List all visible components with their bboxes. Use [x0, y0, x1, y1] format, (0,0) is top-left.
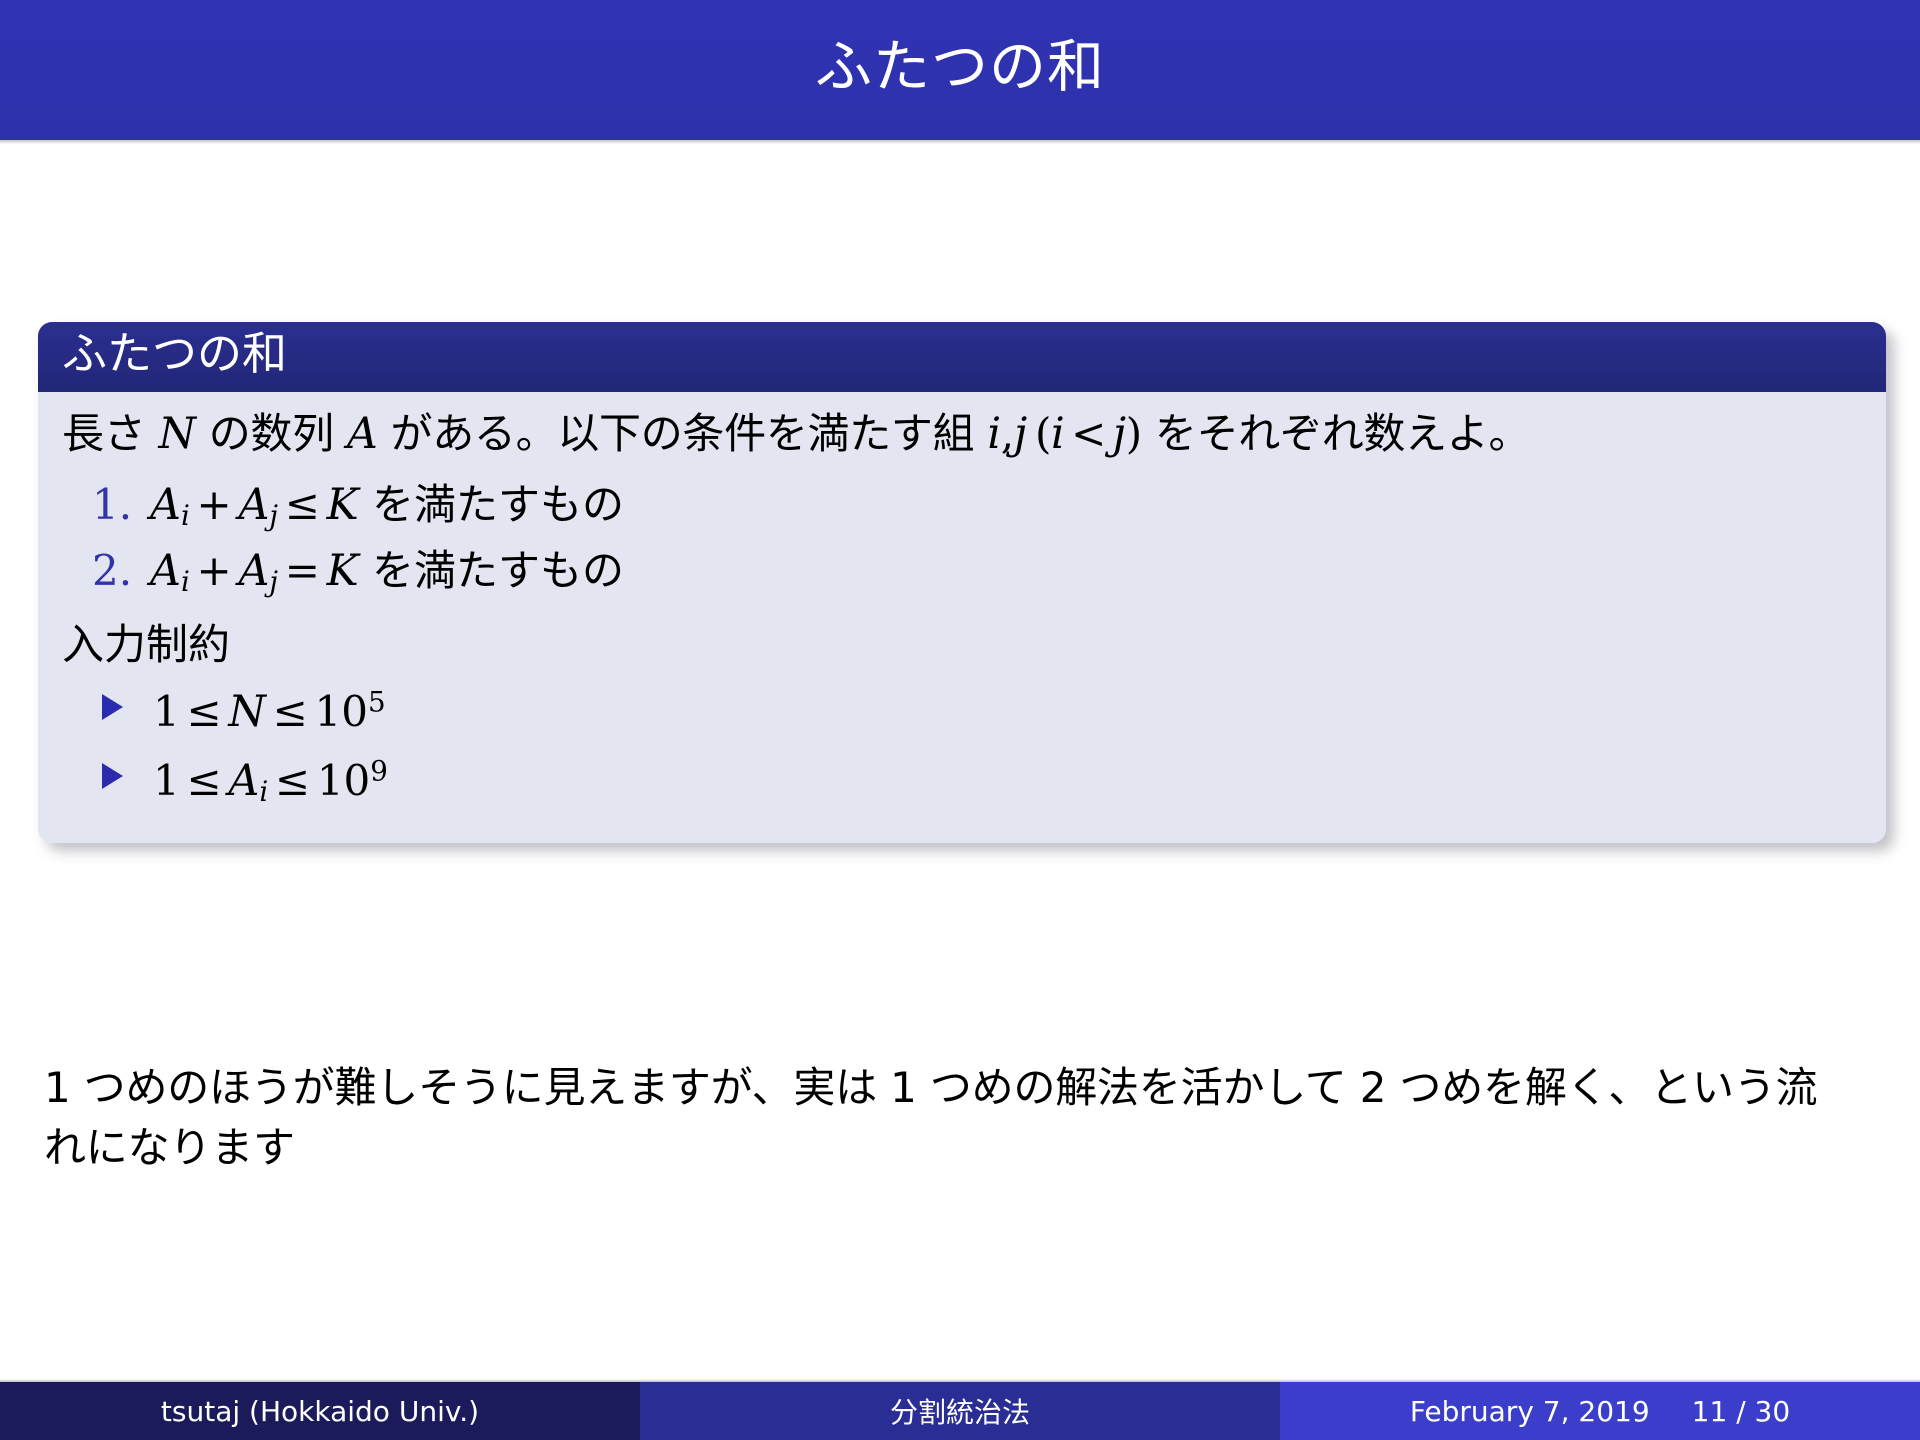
math-var-j: j	[1014, 409, 1027, 459]
intro-part-1: 長さ	[62, 409, 158, 458]
math-less-than: <	[1064, 409, 1112, 458]
footer-subject: 分割統治法	[640, 1382, 1280, 1440]
body-note: 1 つめのほうが難しそうに見えますが、実は 1 つめの解法を活かして 2 つめを…	[44, 1058, 1834, 1177]
math-leq-1: ≤	[180, 756, 229, 805]
math-relation: ≤	[278, 480, 327, 529]
footer-date: February 7, 2019	[1410, 1395, 1650, 1428]
list-item-tail: を満たすもの	[372, 546, 624, 595]
math-var-K: K	[327, 480, 359, 530]
block-body: 長さ N の数列 A がある。以下の条件を満たす組 i,j (i<j) をそれぞ…	[38, 392, 1886, 843]
math-sub-j: j	[269, 566, 278, 599]
intro-part-2: の数列	[196, 409, 347, 458]
math-exponent: 9	[370, 755, 388, 788]
math-sub-j: j	[269, 499, 278, 532]
content-block: ふたつの和 長さ N の数列 A がある。以下の条件を満たす組 i,j (i<j…	[38, 322, 1886, 843]
list-item: 1≤N≤105	[62, 678, 1862, 747]
list-item-content: Ai+Aj=K を満たすもの	[150, 538, 624, 604]
math-sub: i	[259, 775, 268, 808]
block-header: ふたつの和	[38, 322, 1886, 392]
math-comma: ,	[1001, 409, 1014, 458]
triangle-bullet-icon	[102, 694, 123, 720]
slide-footer: tsutaj (Hokkaido Univ.) 分割統治法 February 7…	[0, 1382, 1920, 1440]
math-leq-1: ≤	[180, 687, 229, 736]
list-item-number: 2.	[92, 538, 150, 603]
footer-page-number: 11 / 30	[1692, 1395, 1791, 1428]
block-intro-text: 長さ N の数列 A がある。以下の条件を満たす組 i,j (i<j) をそれぞ…	[62, 406, 1862, 463]
math-leq-2: ≤	[268, 756, 317, 805]
list-item: 2. Ai+Aj=K を満たすもの	[62, 538, 1862, 604]
slide-title-bar: ふたつの和	[0, 0, 1920, 140]
intro-part-4: をそれぞれ数えよ。	[1142, 409, 1530, 458]
math-exponent: 5	[368, 685, 386, 718]
math-var-j-2: j	[1113, 409, 1126, 459]
footer-author: tsutaj (Hokkaido Univ.)	[0, 1382, 640, 1440]
math-plus: +	[190, 546, 239, 595]
list-item-content: Ai+Aj≤K を満たすもの	[150, 472, 624, 538]
math-var: N	[228, 687, 265, 737]
math-one: 1	[153, 756, 180, 805]
math-var-i-2: i	[1051, 409, 1064, 459]
math-sub-i: i	[181, 499, 190, 532]
triangle-bullet-icon	[102, 763, 123, 789]
math-var-A: A	[150, 480, 181, 530]
math-base: 10	[317, 756, 370, 805]
block-title: ふたつの和	[62, 327, 287, 380]
math-paren-close: )	[1126, 409, 1142, 458]
math-var-A: A	[347, 409, 378, 459]
math-relation: =	[278, 546, 327, 595]
math-sub-i: i	[181, 566, 190, 599]
math-var-A-2: A	[238, 480, 269, 530]
math-plus: +	[190, 480, 239, 529]
list-item: 1. Ai+Aj≤K を満たすもの	[62, 472, 1862, 538]
constraints-list: 1≤N≤105 1≤Ai≤109	[62, 678, 1862, 817]
footer-meta: February 7, 2019 11 / 30	[1280, 1382, 1920, 1440]
math-var-A-2: A	[238, 546, 269, 596]
math-paren-open: (	[1035, 409, 1051, 458]
constraint-formula: 1≤Ai≤109	[153, 747, 388, 816]
math-var-A: A	[150, 546, 181, 596]
math-var-K: K	[327, 546, 359, 596]
math-var: A	[228, 756, 259, 806]
condition-list: 1. Ai+Aj≤K を満たすもの 2. Ai+Aj=K を満たすもの	[62, 472, 1862, 605]
page-title: ふたつの和	[815, 39, 1105, 102]
math-var-i: i	[987, 409, 1000, 459]
list-item-number: 1.	[92, 472, 150, 537]
list-item-tail: を満たすもの	[372, 480, 624, 529]
list-item: 1≤Ai≤109	[62, 747, 1862, 816]
title-bar-underline	[0, 140, 1920, 144]
math-var-N: N	[158, 409, 195, 459]
math-leq-2: ≤	[266, 687, 315, 736]
intro-part-3: がある。以下の条件を満たす組	[377, 409, 987, 458]
math-one: 1	[153, 687, 180, 736]
constraints-heading: 入力制約	[62, 613, 1862, 676]
constraint-formula: 1≤N≤105	[153, 678, 386, 747]
math-base: 10	[315, 687, 368, 736]
